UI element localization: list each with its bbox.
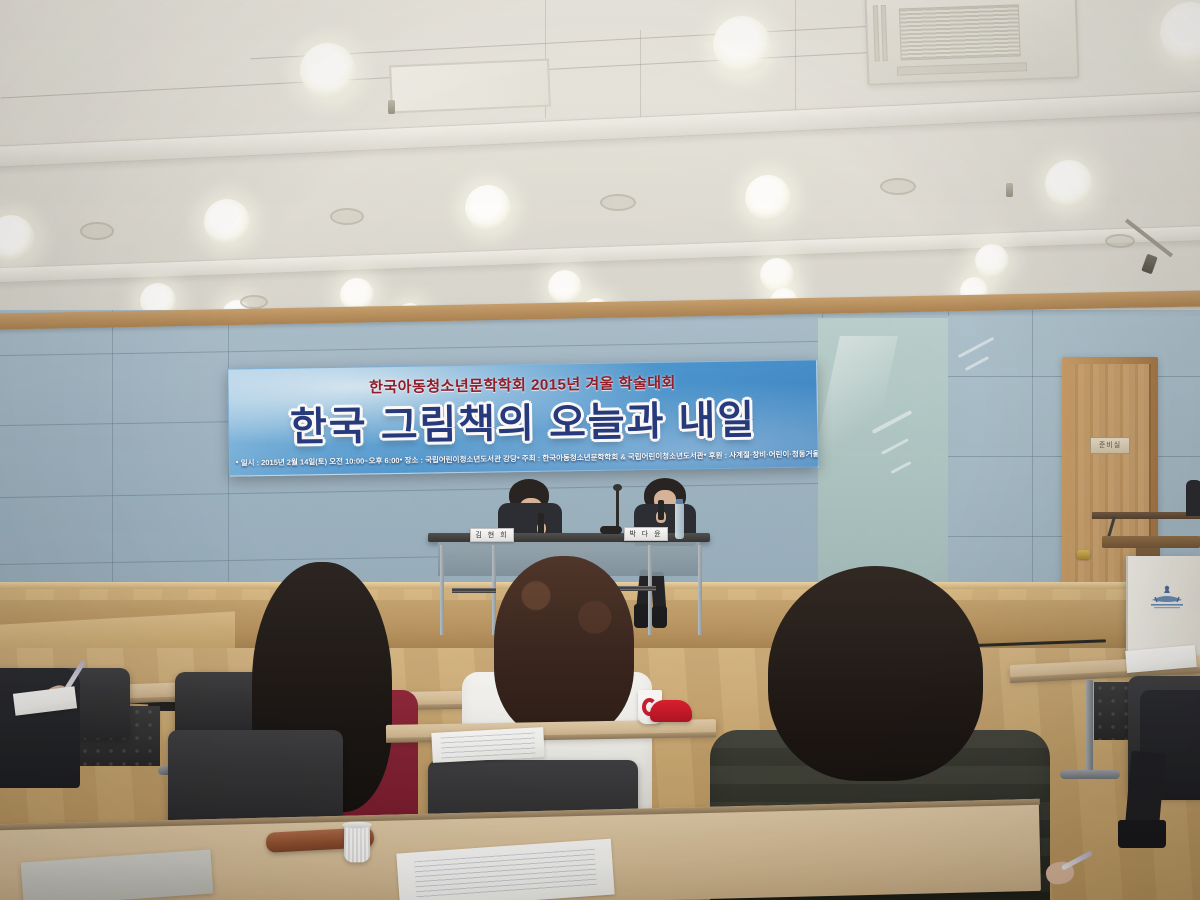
attendee-hair xyxy=(768,566,983,781)
ceiling-downlight xyxy=(760,258,794,292)
ceiling-downlight xyxy=(204,199,250,245)
attendee-far-right xyxy=(1186,480,1200,516)
wall-glint xyxy=(965,356,989,371)
wall-seam xyxy=(0,556,460,565)
ceiling-downlight xyxy=(300,43,356,99)
paper-cup xyxy=(344,824,371,862)
banner-footer-datetime: 일시 : 2015년 2월 14일(토) 오전 10:00~오후 6:00 xyxy=(236,455,400,469)
ceiling-band xyxy=(0,223,1200,284)
handheld-microphone xyxy=(538,513,544,535)
fire-sprinkler-icon xyxy=(388,100,395,114)
paper-text-lines xyxy=(414,849,597,900)
desk-microphone-head xyxy=(613,484,622,491)
table-leg xyxy=(440,545,444,635)
name-placard: 김 현 희 xyxy=(470,528,514,542)
ac-slat xyxy=(873,5,880,61)
ac-vent xyxy=(865,0,1080,86)
ceiling-light-ring xyxy=(1105,234,1135,248)
ceiling-light-ring xyxy=(880,178,916,195)
attendee-shoe xyxy=(1118,820,1166,848)
handheld-microphone xyxy=(658,500,664,520)
ceiling xyxy=(0,0,1200,340)
speaker-boot xyxy=(652,606,667,628)
ceiling-panel-line xyxy=(640,30,641,120)
ceiling-downlight xyxy=(1160,2,1200,64)
fire-sprinkler-icon xyxy=(1006,183,1013,197)
ac-grille xyxy=(899,4,1021,60)
desk-microphone-stand xyxy=(616,488,619,528)
desk-microphone-base xyxy=(600,526,622,534)
attendee-hair xyxy=(494,556,634,736)
desk-leg xyxy=(1086,680,1093,772)
desk-foot xyxy=(1060,770,1120,779)
ceiling-band xyxy=(0,89,1200,169)
banner-footer-sponsor: 후원 : 사계절·창비·어린이·청동거울 xyxy=(704,448,819,461)
ceiling-downlight xyxy=(465,185,511,231)
ceiling-downlight xyxy=(745,175,791,221)
name-placard: 박 다 윤 xyxy=(624,527,668,541)
banner-footer-venue: 장소 : 국립어린이청소년도서관 강당 xyxy=(399,453,516,466)
side-table xyxy=(1092,512,1200,519)
ceiling-downlight xyxy=(713,16,771,74)
ceiling-downlight xyxy=(0,215,34,261)
podium-top xyxy=(1102,536,1200,548)
ac-slat xyxy=(881,5,888,61)
conference-hall-photo: 준비실 한국아동청소년문학학회 2015년 겨울 학술대회 한국 그림책의 오늘… xyxy=(0,0,1200,900)
door-knob[interactable] xyxy=(1077,550,1090,559)
door-sign: 준비실 xyxy=(1090,437,1130,454)
water-bottle xyxy=(675,503,684,539)
ceiling-downlight xyxy=(975,244,1009,278)
track-light-head xyxy=(1141,254,1157,275)
ceiling-light-ring xyxy=(80,222,114,240)
wall-seam xyxy=(112,310,113,600)
wall-glint xyxy=(958,337,995,358)
event-banner: 한국아동청소년문학학회 2015년 겨울 학술대회 한국 그림책의 오늘과 내일… xyxy=(227,359,819,476)
speaker-boot xyxy=(634,604,649,628)
library-emblem-icon xyxy=(1146,584,1188,612)
paper-text-lines xyxy=(440,732,535,758)
ceiling-light-ring xyxy=(600,194,636,211)
ceiling-light-ring xyxy=(330,208,364,225)
water-bottle-cap xyxy=(676,499,683,504)
ceiling-panel-line xyxy=(795,0,796,110)
ceiling-access-hatch xyxy=(389,59,551,114)
ceiling-downlight xyxy=(1045,160,1093,208)
wall-seam xyxy=(1032,316,1033,626)
banner-footer-host: 주최 : 한국아동청소년문학학회 & 국립어린이청소년도서관 xyxy=(517,450,704,464)
red-desk-object xyxy=(650,700,692,722)
ac-slat xyxy=(897,62,1027,76)
wall-seam xyxy=(0,341,820,356)
cup-rim xyxy=(342,822,371,829)
ceiling-light-ring xyxy=(240,295,268,309)
banner-title: 한국 그림책의 오늘과 내일 xyxy=(229,386,818,453)
ceiling-downlight xyxy=(548,270,582,304)
wall-seam xyxy=(0,483,820,498)
handout-paper xyxy=(431,727,544,763)
table-rail xyxy=(452,588,496,593)
table-leg xyxy=(698,545,702,635)
